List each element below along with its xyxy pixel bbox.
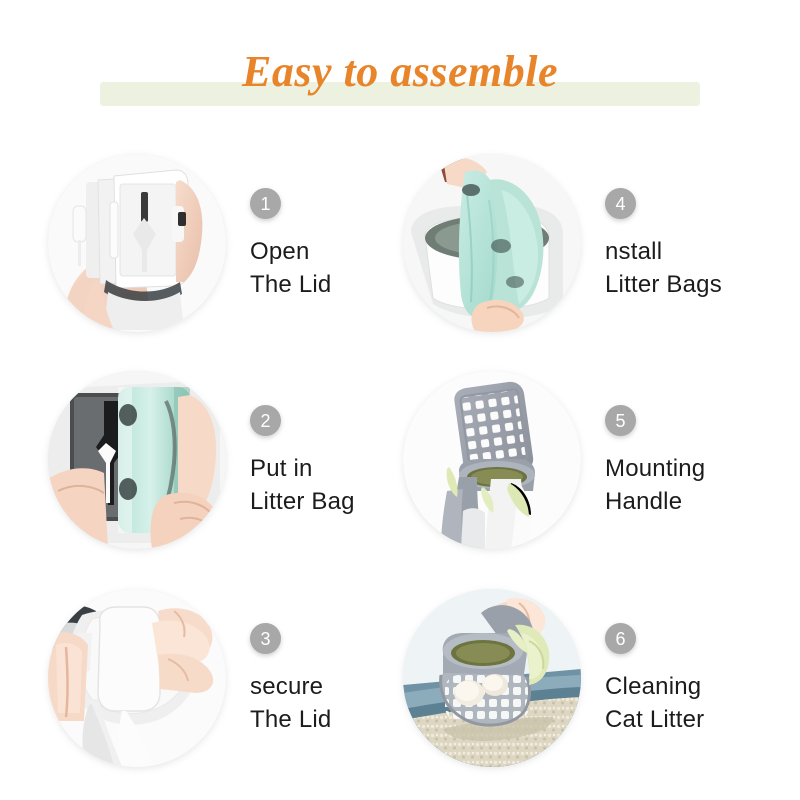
step-label-5: Mounting Handle — [605, 452, 705, 518]
step-text-5: 5 Mounting Handle — [605, 401, 705, 518]
step-item-3: 3 secure The Lid — [48, 570, 403, 785]
step-label-6: Cleaning Cat Litter — [605, 670, 704, 736]
step-badge-4: 4 — [605, 188, 636, 219]
step-badge-6: 6 — [605, 623, 636, 654]
step-badge-1: 1 — [250, 188, 281, 219]
step-item-4: 4 nstall Litter Bags — [403, 135, 758, 350]
photo-secure-the-lid — [48, 589, 226, 767]
photo-put-in-litter-bag — [48, 371, 226, 549]
step-badge-2: 2 — [250, 405, 281, 436]
step-text-4: 4 nstall Litter Bags — [605, 184, 722, 301]
step-text-3: 3 secure The Lid — [250, 619, 331, 736]
step-badge-3: 3 — [250, 623, 281, 654]
step-item-6: 6 Cleaning Cat Litter — [403, 570, 758, 785]
step-label-1: Open The Lid — [250, 235, 331, 301]
step-text-2: 2 Put in Litter Bag — [250, 401, 355, 518]
step-label-4: nstall Litter Bags — [605, 235, 722, 301]
step-item-5: 5 Mounting Handle — [403, 352, 758, 567]
step-item-2: 2 Put in Litter Bag — [48, 352, 403, 567]
photo-open-the-lid — [48, 154, 226, 332]
header: Easy to assemble — [0, 0, 800, 130]
steps-grid: 1 Open The Lid — [0, 130, 800, 800]
photo-mounting-handle — [403, 371, 581, 549]
step-label-2: Put in Litter Bag — [250, 452, 355, 518]
step-text-1: 1 Open The Lid — [250, 184, 331, 301]
photo-cleaning-cat-litter — [403, 589, 581, 767]
page-title: Easy to assemble — [0, 46, 800, 98]
step-item-1: 1 Open The Lid — [48, 135, 403, 350]
step-label-3: secure The Lid — [250, 670, 331, 736]
photo-install-litter-bags — [403, 154, 581, 332]
step-badge-5: 5 — [605, 405, 636, 436]
step-text-6: 6 Cleaning Cat Litter — [605, 619, 704, 736]
